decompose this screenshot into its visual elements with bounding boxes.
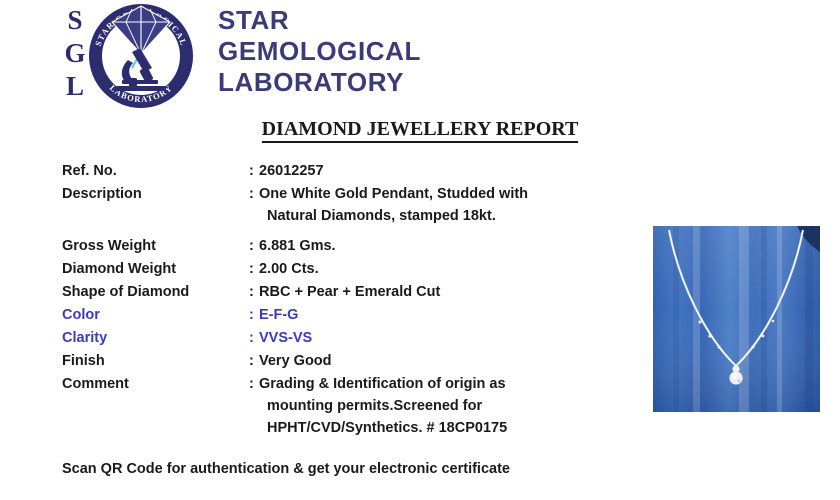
field-row-diamond-weight: Diamond Weight : 2.00 Cts. [62,258,622,280]
separator-diamond-weight: : [249,258,259,280]
separator-ref-no: : [249,160,259,182]
value-color: E-F-G [259,304,622,326]
label-clarity: Clarity [62,327,249,349]
qr-instruction-text: Scan QR Code for authentication & get yo… [62,459,510,479]
lab-name-line-3: LABORATORY [218,67,421,98]
field-row-ref-no: Ref. No. : 26012257 [62,160,622,182]
label-finish: Finish [62,350,249,372]
value-shape: RBC + Pear + Emerald Cut [259,281,622,303]
lab-name-line-1: STAR [218,5,421,36]
separator-description: : [249,183,259,205]
field-row-comment: Comment : Grading & Identification of or… [62,373,622,439]
value-description-line-1: One White Gold Pendant, Studded with [259,186,528,202]
value-description: One White Gold Pendant, Studded with Nat… [259,183,622,227]
lab-logo-emblem: STAR GEMOLOGICAL LABORATORY [80,0,202,112]
separator-gross-weight: : [249,235,259,257]
label-color: Color [62,304,249,326]
certificate-header: S G L STAR GEMOLOGICAL LABORATORY [0,0,840,112]
separator-shape: : [249,281,259,303]
field-row-description: Description : One White Gold Pendant, St… [62,183,622,227]
field-row-color: Color : E-F-G [62,304,622,326]
label-ref-no: Ref. No. [62,160,249,182]
separator-finish: : [249,350,259,372]
lab-name-line-2: GEMOLOGICAL [218,36,421,67]
lab-name: STAR GEMOLOGICAL LABORATORY [218,5,421,98]
pendant-photograph [653,226,820,412]
field-group-spacer [62,228,622,235]
label-gross-weight: Gross Weight [62,235,249,257]
label-description: Description [62,183,249,205]
value-finish: Very Good [259,350,622,372]
label-shape: Shape of Diamond [62,281,249,303]
label-diamond-weight: Diamond Weight [62,258,249,280]
separator-color: : [249,304,259,326]
value-ref-no: 26012257 [259,160,622,182]
value-comment-line-2: mounting permits.Screened for [259,395,622,417]
value-comment-line-3: HPHT/CVD/Synthetics. # 18CP0175 [259,417,622,439]
value-clarity: VVS-VS [259,327,622,349]
field-row-clarity: Clarity : VVS-VS [62,327,622,349]
report-title-text: DIAMOND JEWELLERY REPORT [262,118,579,143]
field-row-finish: Finish : Very Good [62,350,622,372]
separator-clarity: : [249,327,259,349]
value-description-line-2: Natural Diamonds, stamped 18kt. [259,205,622,227]
report-title: DIAMOND JEWELLERY REPORT [0,118,840,141]
field-row-gross-weight: Gross Weight : 6.881 Gms. [62,235,622,257]
value-diamond-weight: 2.00 Cts. [259,258,622,280]
value-comment-line-1: Grading & Identification of origin as [259,376,506,392]
value-gross-weight: 6.881 Gms. [259,235,622,257]
field-row-shape: Shape of Diamond : RBC + Pear + Emerald … [62,281,622,303]
separator-comment: : [249,373,259,395]
value-comment: Grading & Identification of origin as mo… [259,373,622,439]
label-comment: Comment [62,373,249,395]
report-fields: Ref. No. : 26012257 Description : One Wh… [62,160,622,440]
